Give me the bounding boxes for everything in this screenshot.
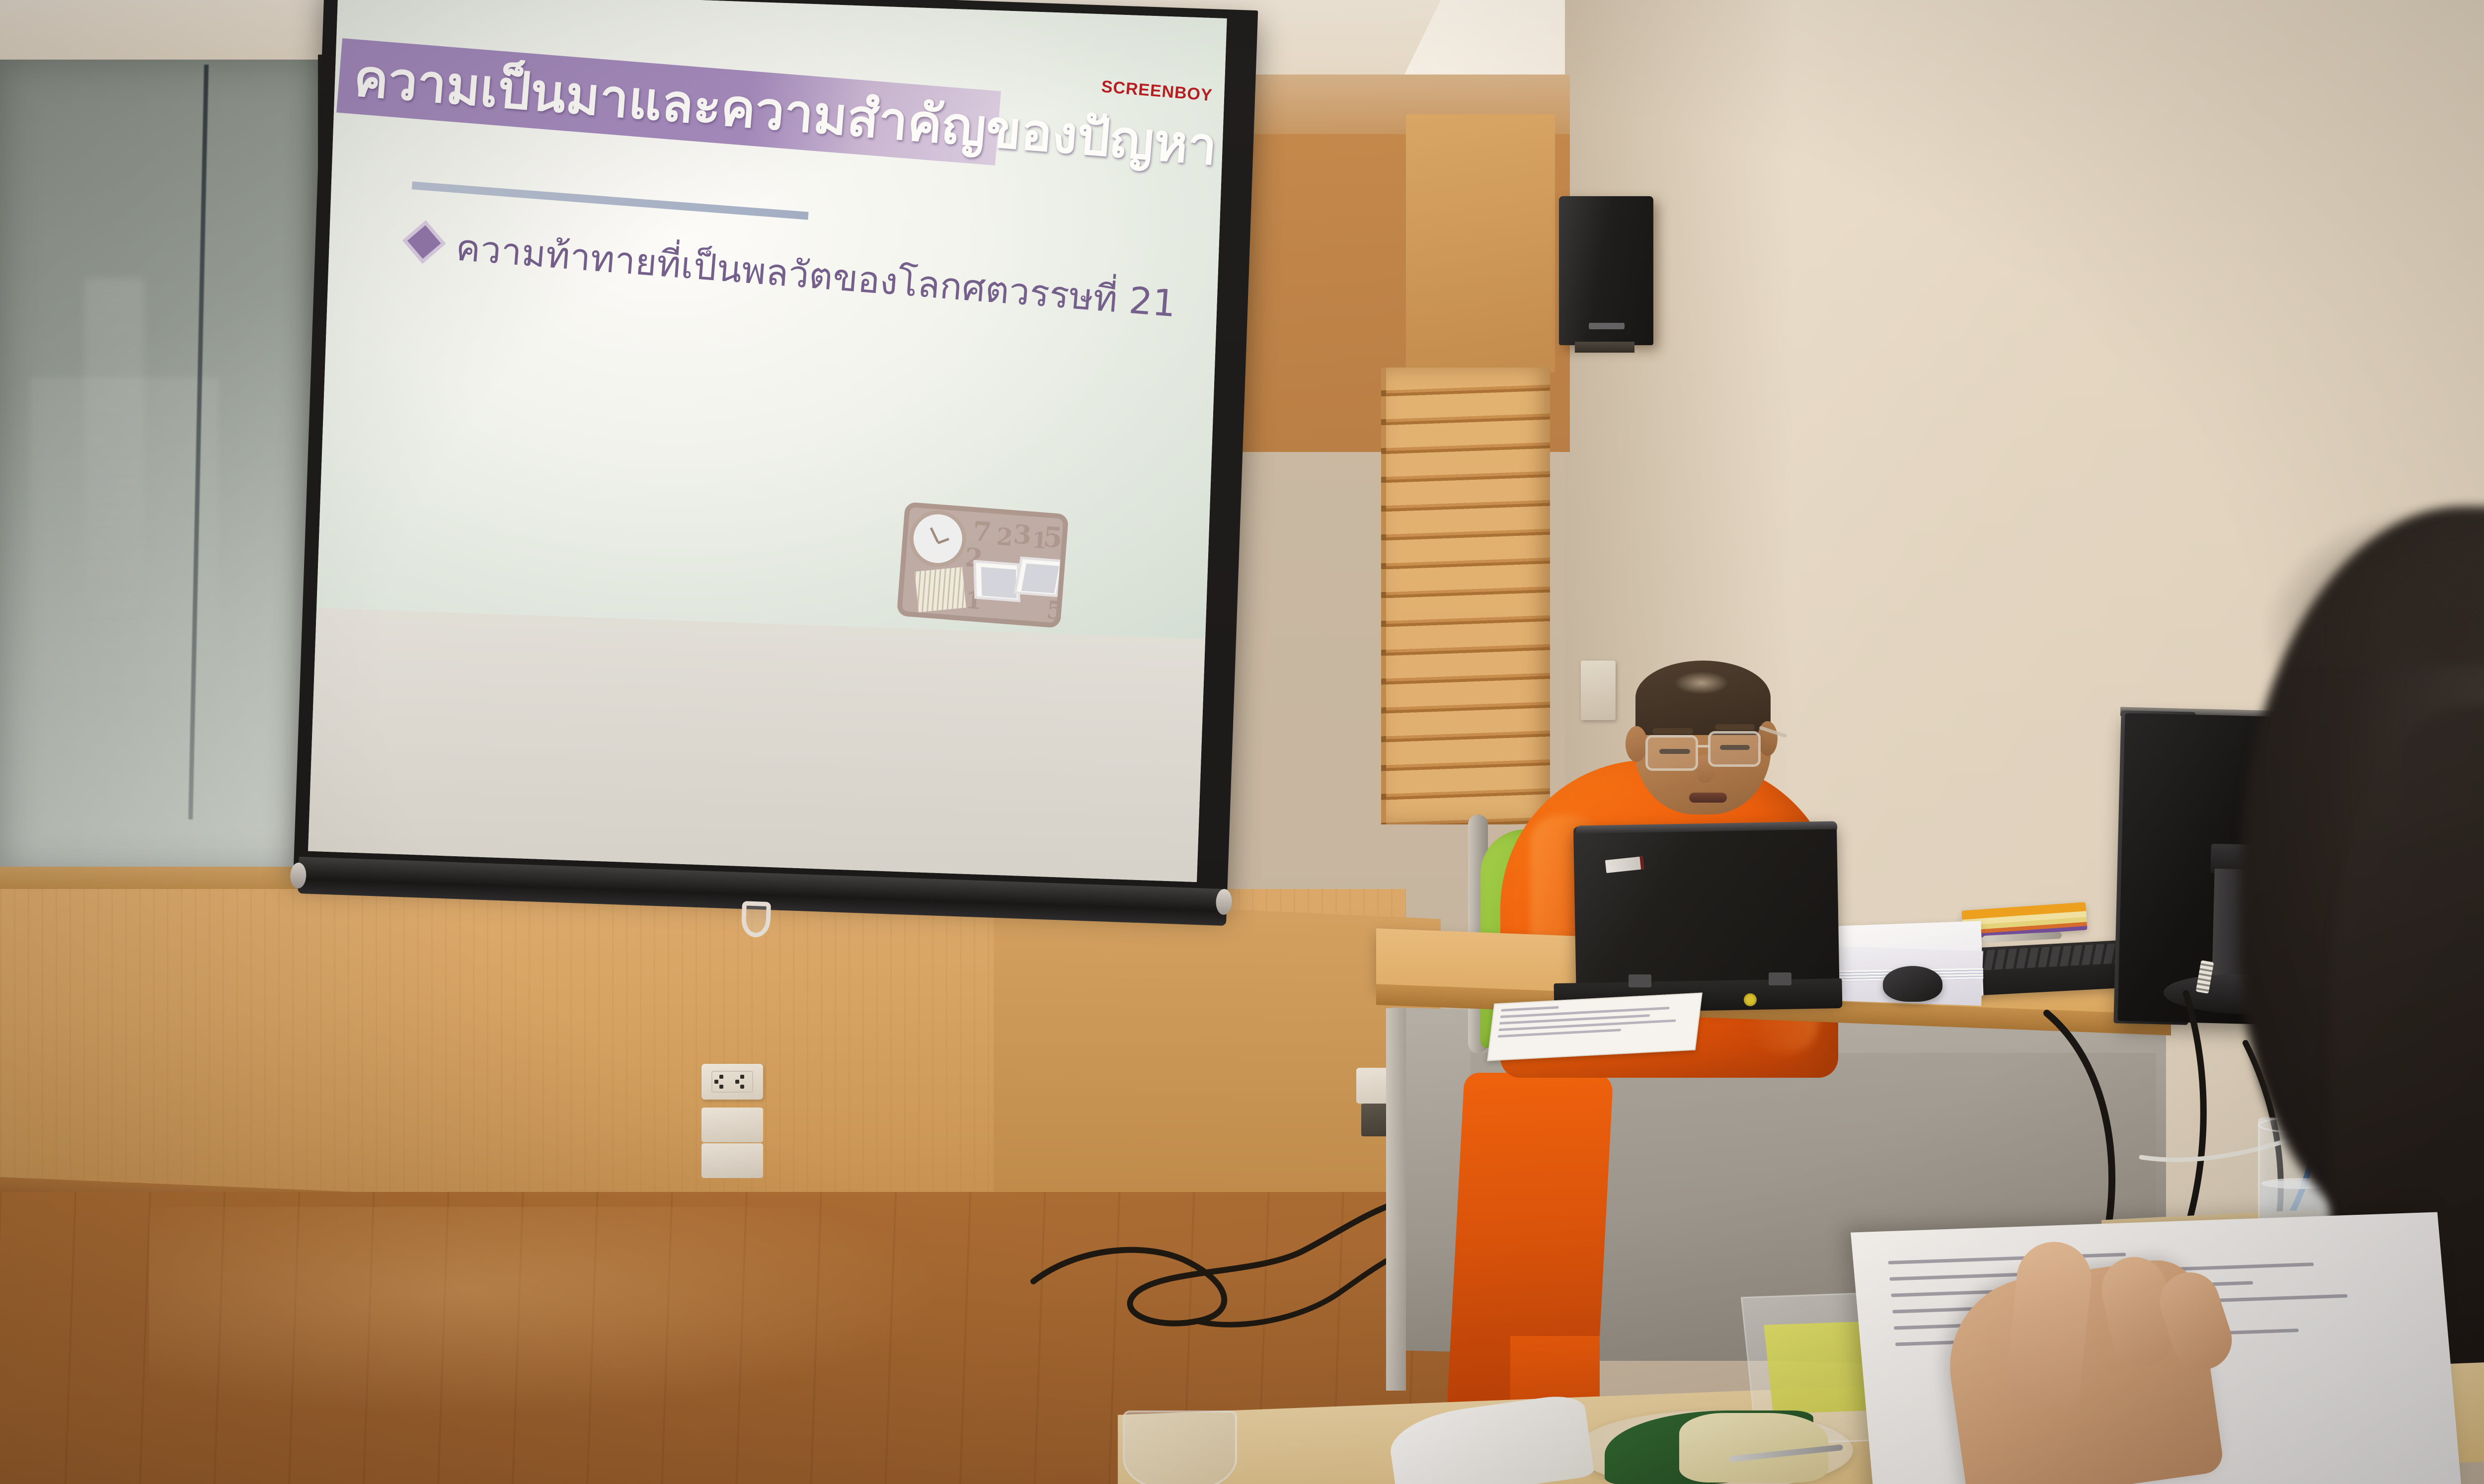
clipart-number: 5 <box>1042 520 1064 555</box>
hair-wisps <box>2265 507 2484 666</box>
wall-outlet-socket[interactable] <box>711 1071 753 1093</box>
screen-roller-cap-right <box>1216 889 1233 915</box>
mouth <box>1689 793 1727 803</box>
laptop-sticker <box>1744 993 1757 1006</box>
thinkpad-laptop[interactable] <box>1573 822 1840 1005</box>
wood-slat-panel <box>1386 368 1550 824</box>
speaker-bracket <box>1575 342 1634 353</box>
drinking-glass[interactable] <box>1123 1410 1237 1484</box>
blank-wall-plate[interactable] <box>701 1143 763 1178</box>
eyeglasses-lens-right <box>1708 731 1761 767</box>
book-page-left <box>981 567 1017 598</box>
clipart-number: 3 <box>1012 519 1033 551</box>
wall-electrical-panel <box>1581 661 1616 720</box>
laptop-hinge-left <box>1629 974 1651 987</box>
clock-icon <box>912 513 964 565</box>
ear-left <box>1626 726 1647 762</box>
photo-scene: ความเป็นมาและความสำคัญของปัญหา ความท้าทา… <box>0 0 2484 1484</box>
eyeglasses-bridge <box>1697 745 1710 747</box>
wood-column <box>1406 114 1555 372</box>
education-clipart: 7 2 3 1 5 2 1 5 <box>897 502 1069 628</box>
laptop-hinge-right <box>1769 972 1791 985</box>
clock-hand-hour <box>930 527 939 543</box>
open-book-icon <box>973 560 1020 602</box>
desk-leg <box>1386 1008 1406 1391</box>
glass-reflection-secondary <box>84 278 144 646</box>
book-page-right-wrap <box>1014 557 1065 597</box>
speaker-brand-badge <box>1589 323 1625 329</box>
eyebrow-left <box>1652 728 1693 734</box>
projection-screen: ความเป็นมาและความสำคัญของปัญหา ความท้าทา… <box>292 0 1318 946</box>
computer-mouse[interactable] <box>1883 966 1942 1002</box>
lined-page-icon <box>915 567 966 612</box>
eyebrow-right <box>1715 724 1755 730</box>
blank-wall-plate[interactable] <box>701 1108 763 1142</box>
eyeglasses-lens-left <box>1645 735 1698 771</box>
clipart-number: 2 <box>995 523 1014 552</box>
clock-hand-minute <box>937 538 949 544</box>
slide-lower-area <box>308 608 1205 882</box>
book-page-right <box>1021 563 1059 593</box>
floor-light-glow <box>149 1207 944 1415</box>
scalp-highlight <box>1674 671 1729 694</box>
printed-document[interactable] <box>1487 993 1703 1061</box>
